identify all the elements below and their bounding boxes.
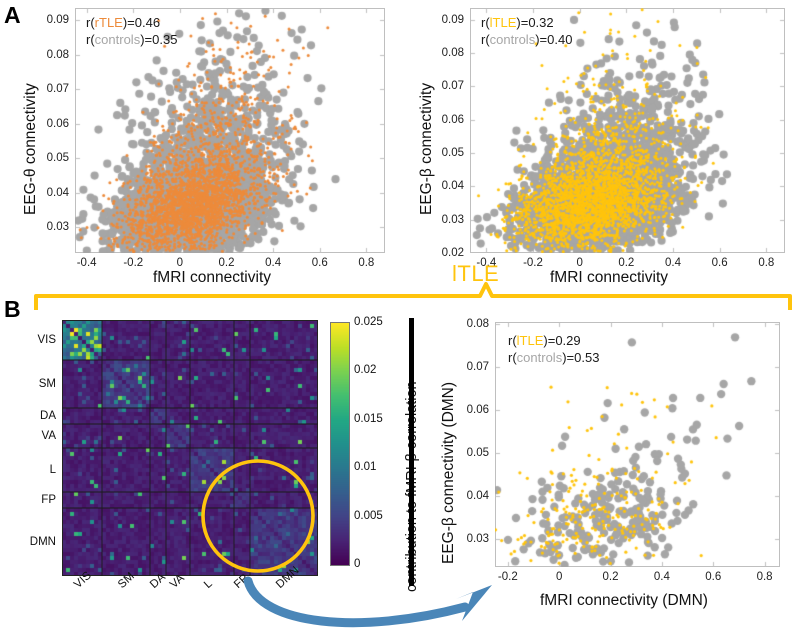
y-tick-label: 0.06 <box>442 114 464 126</box>
annotation-r-ltle: r(lTLE)=0.32 <box>481 14 554 32</box>
heatmap-row-label-da: DA <box>40 410 56 422</box>
r-value-rtle: )=0.46 <box>123 15 160 30</box>
x-tick-label: 0.6 <box>712 257 728 269</box>
group-name-controls: controls <box>490 32 536 47</box>
r-value-controls: )=0.35 <box>140 32 177 47</box>
heatmap-row-label-fp: FP <box>41 494 56 506</box>
y-tick-label: 0.03 <box>47 221 69 233</box>
x-axis-label: fMRI connectivity (DMN) <box>540 592 708 610</box>
y-axis-label: EEG-β connectivity (DMN) <box>440 382 458 564</box>
x-tick-label: -0.4 <box>77 257 97 269</box>
y-tick-label: 0.08 <box>442 47 464 59</box>
heatmap-row-label-va: VA <box>42 430 57 442</box>
r-label: r( <box>481 32 490 47</box>
x-tick-label: 0.6 <box>705 571 721 583</box>
annotation-r-ltle: r(lTLE)=0.29 <box>508 332 581 350</box>
group-name-ltle: lTLE <box>517 333 544 348</box>
colorbar <box>330 322 350 566</box>
x-tick-label: 0.4 <box>665 257 681 269</box>
x-tick-label: 0.8 <box>757 571 773 583</box>
annotation-r-controls: r(controls)=0.35 <box>86 31 177 49</box>
annotation-r-controls: r(controls)=0.53 <box>508 349 599 367</box>
scatter-plot-ltle-beta-dmn: r(lTLE)=0.29 r(controls)=0.53 EEG-β conn… <box>420 300 800 629</box>
y-tick-label: 0.05 <box>442 147 464 159</box>
scatter-plot-rtle-theta: r(rTLE)=0.46 r(controls)=0.35 EEG-θ conn… <box>0 0 400 290</box>
y-tick-label: 0.04 <box>442 180 464 192</box>
y-tick-label: 0.07 <box>47 83 69 95</box>
x-tick-label: 0.2 <box>603 571 619 583</box>
colorbar-tick-label: 0.015 <box>354 413 383 425</box>
group-name-controls: controls <box>95 32 141 47</box>
colorbar-tick-label: 0.025 <box>354 316 383 328</box>
x-tick-label: 0 <box>576 257 582 269</box>
scatter-plot-ltle-beta: r(lTLE)=0.32 r(controls)=0.40 EEG-β conn… <box>400 0 800 290</box>
heatmap-row-label-l: L <box>50 464 56 476</box>
heatmap-row-label-dmn: DMN <box>30 536 56 548</box>
y-tick-label: 0.08 <box>467 318 489 330</box>
heatmap-overlay <box>62 320 318 576</box>
x-tick-label: 0.4 <box>654 571 670 583</box>
heatmap-col-label-l: L <box>202 578 215 591</box>
r-label: r( <box>481 15 490 30</box>
r-label: r( <box>508 350 517 365</box>
r-value-controls: )=0.40 <box>535 32 572 47</box>
x-tick-label: 0 <box>177 257 183 269</box>
colorbar-tick-label: 0.005 <box>354 510 383 522</box>
y-tick-label: 0.02 <box>442 247 464 259</box>
group-name-rtle: rTLE <box>95 15 123 30</box>
x-tick-label: -0.2 <box>523 257 543 269</box>
x-tick-label: -0.2 <box>498 571 518 583</box>
x-tick-label: 0.4 <box>265 257 281 269</box>
x-tick-label: 0 <box>556 571 562 583</box>
y-tick-label: 0.06 <box>467 404 489 416</box>
colorbar-tick-label: 0.01 <box>354 461 376 473</box>
x-tick-label: 0.8 <box>358 257 374 269</box>
x-tick-label: 0.2 <box>618 257 634 269</box>
panel-divider <box>409 318 414 586</box>
y-tick-label: 0.09 <box>442 14 464 26</box>
y-tick-label: 0.07 <box>467 361 489 373</box>
group-name-controls: controls <box>517 350 563 365</box>
y-tick-label: 0.05 <box>467 447 489 459</box>
y-tick-label: 0.09 <box>47 14 69 26</box>
colorbar-tick-label: 0.02 <box>354 364 376 376</box>
y-tick-label: 0.04 <box>47 187 69 199</box>
y-tick-label: 0.05 <box>47 152 69 164</box>
r-value-ltle: )=0.29 <box>543 333 580 348</box>
x-tick-label: 0.2 <box>219 257 235 269</box>
group-name-ltle: lTLE <box>490 15 517 30</box>
r-value-controls: )=0.53 <box>562 350 599 365</box>
x-tick-label: -0.2 <box>123 257 143 269</box>
y-tick-label: 0.04 <box>467 490 489 502</box>
annotation-r-controls: r(controls)=0.40 <box>481 31 572 49</box>
r-label: r( <box>86 15 95 30</box>
y-tick-label: 0.07 <box>442 80 464 92</box>
r-value-ltle: )=0.32 <box>516 15 553 30</box>
x-tick-label: 0.8 <box>758 257 774 269</box>
y-tick-label: 0.03 <box>467 533 489 545</box>
x-tick-label: 0.6 <box>312 257 328 269</box>
y-tick-label: 0.08 <box>47 49 69 61</box>
y-tick-label: 0.06 <box>47 118 69 130</box>
r-label: r( <box>86 32 95 47</box>
annotation-r-rtle: r(rTLE)=0.46 <box>86 14 160 32</box>
y-axis-label: EEG-β connectivity <box>418 83 436 215</box>
heatmap-row-label-sm: SM <box>39 378 56 390</box>
r-label: r( <box>508 333 517 348</box>
heatmap-row-label-vis: VIS <box>37 334 56 346</box>
y-tick-label: 0.03 <box>442 214 464 226</box>
y-axis-label: EEG-θ connectivity <box>22 83 40 215</box>
